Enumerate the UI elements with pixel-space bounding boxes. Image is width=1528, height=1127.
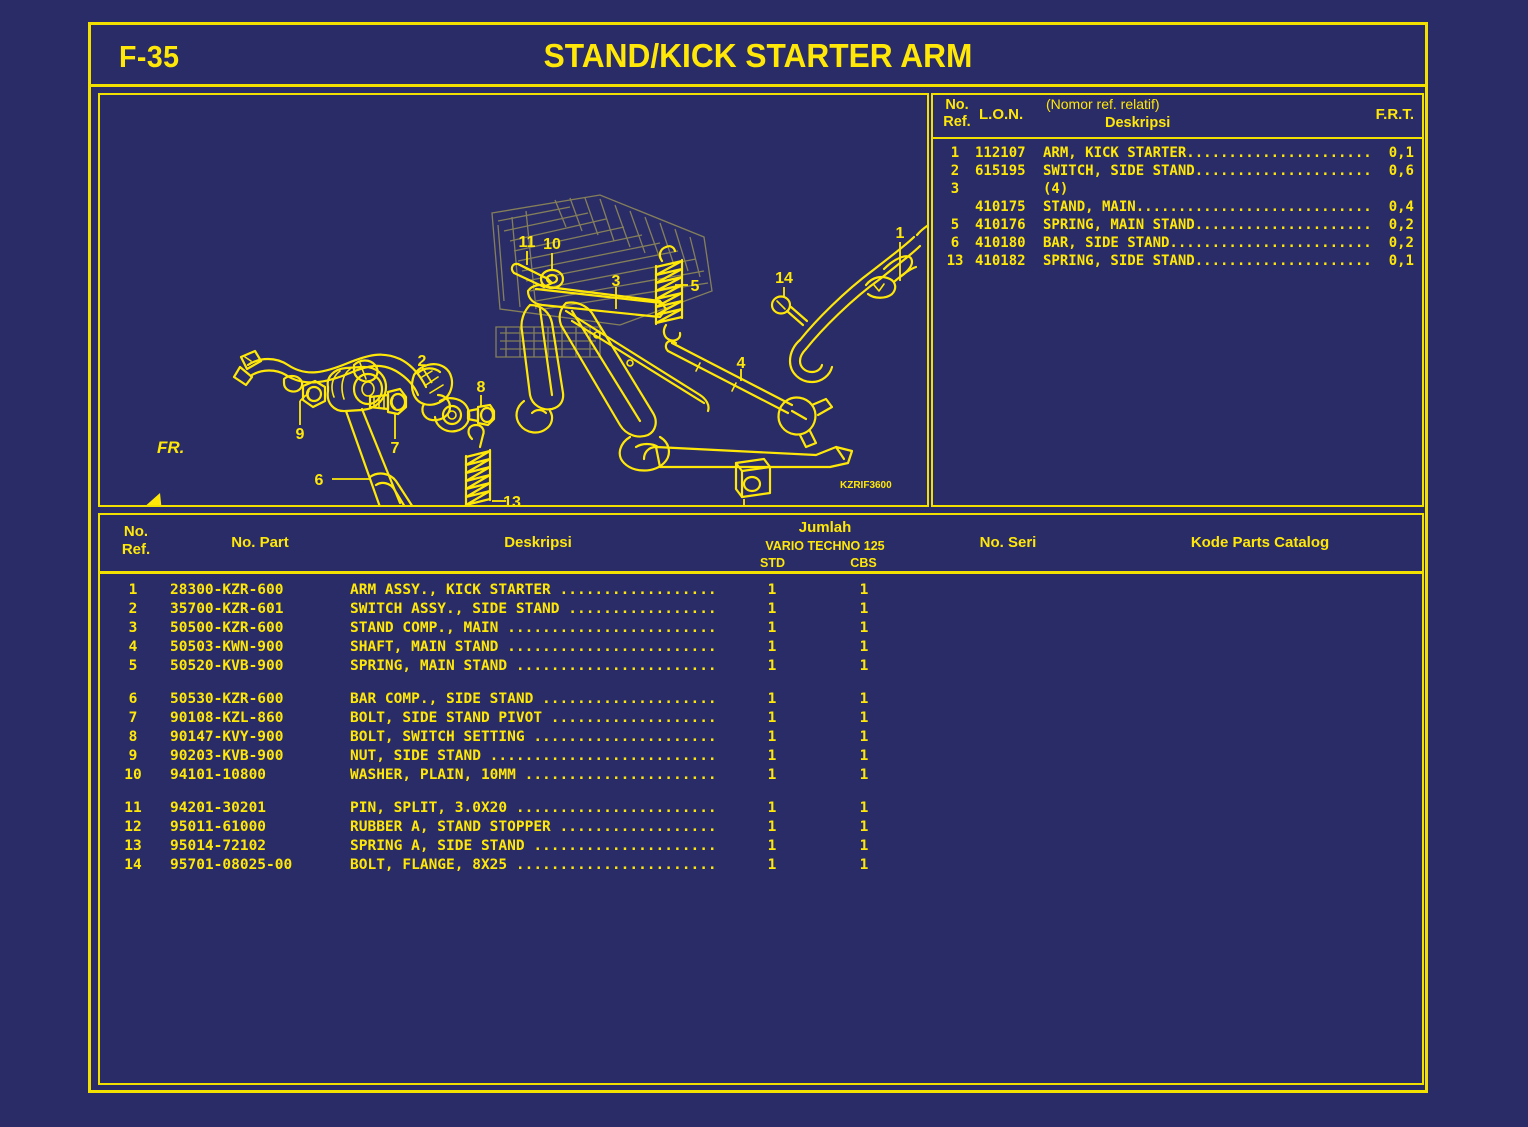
cell-qty-cbs: 1 [816, 582, 912, 598]
lon-table-row: 13410182SPRING, SIDE STAND..............… [933, 253, 1422, 271]
lon-cell-lon: 410176 [975, 217, 1037, 233]
callout-label-2: 2 [418, 353, 427, 370]
parts-header-no-seri: No. Seri [928, 534, 1088, 551]
cell-no-ref: 14 [102, 857, 164, 873]
table-row: 1194201-30201PIN, SPLIT, 3.0X20 ........… [100, 800, 1422, 819]
lon-cell-frt: 0,2 [1389, 217, 1414, 233]
lon-table-row: 3(4) [933, 181, 1422, 199]
lon-cell-desc: SPRING, SIDE STAND..................... [1043, 253, 1373, 269]
upper-section: FR. 1 2 3 4 5 6 7 8 9 10 11 12 13 14 KZR… [91, 87, 1425, 513]
part-switch-setting-bolt-8 [468, 405, 494, 425]
lon-cell-ref: 5 [939, 217, 971, 233]
cell-no-part: 50520-KVB-900 [170, 658, 360, 674]
callout-label-6: 6 [315, 472, 324, 489]
cell-deskripsi: BOLT, SIDE STAND PIVOT .................… [350, 710, 730, 726]
cell-qty-std: 1 [724, 748, 820, 764]
cell-qty-std: 1 [724, 691, 820, 707]
callout-label-3: 3 [612, 273, 621, 290]
callout-label-14: 14 [775, 270, 793, 287]
cell-deskripsi: SPRING, MAIN STAND .....................… [350, 658, 730, 674]
cell-qty-cbs: 1 [816, 729, 912, 745]
cell-qty-cbs: 1 [816, 800, 912, 816]
parts-header-model: VARIO TECHNO 125 [725, 539, 925, 553]
part-plain-washer-10 [541, 270, 563, 288]
table-row: 235700-KZR-601SWITCH ASSY., SIDE STAND .… [100, 601, 1422, 620]
cell-qty-std: 1 [724, 819, 820, 835]
callout-label-4: 4 [737, 355, 746, 372]
cell-qty-std: 1 [724, 838, 820, 854]
cell-qty-std: 1 [724, 800, 820, 816]
callout-label-8: 8 [477, 379, 486, 396]
parts-header-std: STD [725, 556, 820, 570]
table-row: 990203-KVB-900NUT, SIDE STAND ..........… [100, 748, 1422, 767]
lon-cell-ref: 2 [939, 163, 971, 179]
cell-no-part: 94101-10800 [170, 767, 360, 783]
table-row: 550520-KVB-900SPRING, MAIN STAND .......… [100, 658, 1422, 691]
cell-qty-std: 1 [724, 582, 820, 598]
part-main-stand-3 [517, 285, 709, 471]
parts-header-jumlah: Jumlah [725, 519, 925, 536]
table-row: 1295011-61000RUBBER A, STAND STOPPER ...… [100, 819, 1422, 838]
cell-deskripsi: SPRING A, SIDE STAND ...................… [350, 838, 730, 854]
exploded-parts-diagram: FR. 1 2 3 4 5 6 7 8 9 10 11 12 13 14 KZR… [100, 95, 927, 505]
cell-qty-cbs: 1 [816, 819, 912, 835]
cell-no-ref: 13 [102, 838, 164, 854]
part-side-stand-nut-9 [303, 381, 325, 407]
cell-qty-std: 1 [724, 639, 820, 655]
cell-no-part: 94201-30201 [170, 800, 360, 816]
cell-qty-std: 1 [724, 601, 820, 617]
cell-no-ref: 4 [102, 639, 164, 655]
cell-no-ref: 10 [102, 767, 164, 783]
lon-table-header: No. Ref. L.O.N. (Nomor ref. relatif) Des… [933, 95, 1422, 139]
exploded-diagram-panel: FR. 1 2 3 4 5 6 7 8 9 10 11 12 13 14 KZR… [98, 93, 929, 507]
page-title: STAND/KICK STARTER ARM [118, 37, 1399, 75]
table-row: 450503-KWN-900SHAFT, MAIN STAND ........… [100, 639, 1422, 658]
cell-deskripsi: ARM ASSY., KICK STARTER ................… [350, 582, 730, 598]
cell-qty-std: 1 [724, 620, 820, 636]
cell-no-ref: 12 [102, 819, 164, 835]
parts-header-no-ref-line1: No. [108, 523, 164, 541]
cell-deskripsi: PIN, SPLIT, 3.0X20 .....................… [350, 800, 730, 816]
cell-no-part: 90108-KZL-860 [170, 710, 360, 726]
front-direction-arrow: FR. [126, 438, 184, 505]
cell-no-part: 50503-KWN-900 [170, 639, 360, 655]
lon-cell-frt: 0,6 [1389, 163, 1414, 179]
cell-qty-cbs: 1 [816, 767, 912, 783]
cell-no-part: 90147-KVY-900 [170, 729, 360, 745]
part-flange-bolt-14 [772, 297, 807, 326]
lon-table-row: 2615195SWITCH, SIDE STAND...............… [933, 163, 1422, 181]
lon-cell-desc: SPRING, MAIN STAND..................... [1043, 217, 1373, 233]
parts-header-kode-parts-catalog: Kode Parts Catalog [1100, 534, 1420, 551]
cell-no-ref: 1 [102, 582, 164, 598]
callout-label-1: 1 [896, 225, 905, 242]
parts-header-no-ref: No. Ref. [108, 523, 164, 559]
lon-cell-desc: BAR, SIDE STAND........................ [1043, 235, 1373, 251]
parts-table-header: No. Ref. No. Part Deskripsi Jumlah VARIO… [100, 515, 1422, 574]
part-main-stand-spring-5 [656, 246, 682, 340]
lower-stand-bar [644, 447, 852, 467]
cell-no-part: 95011-61000 [170, 819, 360, 835]
cell-no-ref: 8 [102, 729, 164, 745]
part-side-stand-spring-13 [466, 425, 490, 505]
cell-deskripsi: STAND COMP., MAIN ......................… [350, 620, 730, 636]
table-row: 128300-KZR-600ARM ASSY., KICK STARTER ..… [100, 582, 1422, 601]
cell-qty-std: 1 [724, 710, 820, 726]
lon-cell-ref: 3 [939, 181, 971, 197]
cell-qty-std: 1 [724, 857, 820, 873]
front-arrow-label: FR. [157, 438, 184, 457]
lon-header-relative: (Nomor ref. relatif) [1046, 96, 1160, 112]
cell-no-ref: 7 [102, 710, 164, 726]
part-side-stand-bar-6 [328, 367, 426, 505]
drawing-code: KZRIF3600 [840, 480, 892, 491]
cell-qty-cbs: 1 [816, 857, 912, 873]
lon-header-lon: L.O.N. [979, 106, 1023, 123]
cell-no-ref: 6 [102, 691, 164, 707]
cell-deskripsi: RUBBER A, STAND STOPPER ................… [350, 819, 730, 835]
cell-qty-std: 1 [724, 729, 820, 745]
lon-cell-ref: 6 [939, 235, 971, 251]
table-row: 1395014-72102SPRING A, SIDE STAND ......… [100, 838, 1422, 857]
lon-header-no-ref-line1: No. [941, 97, 973, 114]
lon-table-body: 1112107ARM, KICK STARTER................… [933, 139, 1422, 271]
lon-cell-desc: (4) [1043, 181, 1373, 197]
cell-qty-cbs: 1 [816, 838, 912, 854]
lon-table-row: 5410176SPRING, MAIN STAND...............… [933, 217, 1422, 235]
lon-table-row: 6410180BAR, SIDE STAND..................… [933, 235, 1422, 253]
cell-no-ref: 9 [102, 748, 164, 764]
cell-no-part: 35700-KZR-601 [170, 601, 360, 617]
part-rubber-stopper-12 [736, 459, 770, 497]
cell-no-part: 95701-08025-00 [170, 857, 360, 873]
parts-header-no-ref-line2: Ref. [108, 541, 164, 559]
cell-deskripsi: BOLT, FLANGE, 8X25 .....................… [350, 857, 730, 873]
table-row: 350500-KZR-600STAND COMP., MAIN ........… [100, 620, 1422, 639]
lon-header-frt: F.R.T. [1376, 106, 1414, 123]
lon-cell-lon: 112107 [975, 145, 1037, 161]
lon-cell-frt: 0,2 [1389, 235, 1414, 251]
lon-cell-lon: 615195 [975, 163, 1037, 179]
cell-no-part: 95014-72102 [170, 838, 360, 854]
lon-cell-desc: SWITCH, SIDE STAND..................... [1043, 163, 1373, 179]
cell-qty-cbs: 1 [816, 658, 912, 674]
parts-header-deskripsi: Deskripsi [358, 534, 718, 551]
lon-header-no-ref-line2: Ref. [941, 114, 973, 131]
callout-label-5: 5 [691, 278, 700, 295]
lon-table-panel: No. Ref. L.O.N. (Nomor ref. relatif) Des… [931, 93, 1424, 507]
cell-qty-cbs: 1 [816, 601, 912, 617]
cell-qty-cbs: 1 [816, 639, 912, 655]
cell-no-ref: 11 [102, 800, 164, 816]
cell-qty-cbs: 1 [816, 748, 912, 764]
cell-deskripsi: WASHER, PLAIN, 10MM ....................… [350, 767, 730, 783]
table-row: 790108-KZL-860BOLT, SIDE STAND PIVOT ...… [100, 710, 1422, 729]
cell-qty-std: 1 [724, 767, 820, 783]
table-row: 650530-KZR-600BAR COMP., SIDE STAND ....… [100, 691, 1422, 710]
callout-label-7: 7 [391, 440, 400, 457]
parts-table-panel: No. Ref. No. Part Deskripsi Jumlah VARIO… [98, 513, 1424, 1085]
cell-no-part: 90203-KVB-900 [170, 748, 360, 764]
lon-cell-frt: 0,1 [1389, 145, 1414, 161]
catalog-page-frame: F-35 STAND/KICK STARTER ARM [88, 22, 1428, 1093]
parts-table-body: 128300-KZR-600ARM ASSY., KICK STARTER ..… [100, 574, 1422, 876]
cell-deskripsi: BAR COMP., SIDE STAND ..................… [350, 691, 730, 707]
part-kick-starter-arm [790, 203, 927, 382]
cell-deskripsi: NUT, SIDE STAND ........................… [350, 748, 730, 764]
cell-qty-cbs: 1 [816, 691, 912, 707]
lon-cell-frt: 0,4 [1389, 199, 1414, 215]
table-row: 890147-KVY-900BOLT, SWITCH SETTING .....… [100, 729, 1422, 748]
lon-cell-ref: 1 [939, 145, 971, 161]
parts-header-no-part: No. Part [170, 534, 350, 551]
cell-no-part: 50530-KZR-600 [170, 691, 360, 707]
cell-deskripsi: SHAFT, MAIN STAND ......................… [350, 639, 730, 655]
lon-header-deskripsi: Deskripsi [1105, 115, 1170, 131]
lon-cell-lon: 410180 [975, 235, 1037, 251]
cell-no-ref: 5 [102, 658, 164, 674]
callout-label-13: 13 [503, 494, 521, 505]
cell-qty-std: 1 [724, 658, 820, 674]
cell-no-part: 50500-KZR-600 [170, 620, 360, 636]
lon-table-row: 410175STAND, MAIN.......................… [933, 199, 1422, 217]
cell-deskripsi: SWITCH ASSY., SIDE STAND ...............… [350, 601, 730, 617]
callout-label-10: 10 [543, 236, 561, 253]
table-row: 1094101-10800WASHER, PLAIN, 10MM .......… [100, 767, 1422, 800]
lon-cell-frt: 0,1 [1389, 253, 1414, 269]
cell-qty-cbs: 1 [816, 710, 912, 726]
lon-cell-lon: 410182 [975, 253, 1037, 269]
cell-qty-cbs: 1 [816, 620, 912, 636]
parts-header-cbs: CBS [816, 556, 911, 570]
cell-no-part: 28300-KZR-600 [170, 582, 360, 598]
callout-label-9: 9 [296, 426, 305, 443]
lon-header-no-ref: No. Ref. [941, 97, 973, 131]
cell-no-ref: 3 [102, 620, 164, 636]
lon-cell-ref: 13 [939, 253, 971, 269]
lon-cell-desc: STAND, MAIN............................ [1043, 199, 1373, 215]
cell-deskripsi: BOLT, SWITCH SETTING ...................… [350, 729, 730, 745]
lon-cell-desc: ARM, KICK STARTER...................... [1043, 145, 1373, 161]
callout-label-11: 11 [519, 234, 536, 251]
part-side-stand-switch-2 [234, 351, 469, 431]
page-title-bar: F-35 STAND/KICK STARTER ARM [91, 25, 1425, 87]
cell-no-ref: 2 [102, 601, 164, 617]
lon-table-row: 1112107ARM, KICK STARTER................… [933, 145, 1422, 163]
lon-cell-lon: 410175 [975, 199, 1037, 215]
table-row: 1495701-08025-00BOLT, FLANGE, 8X25 .....… [100, 857, 1422, 876]
